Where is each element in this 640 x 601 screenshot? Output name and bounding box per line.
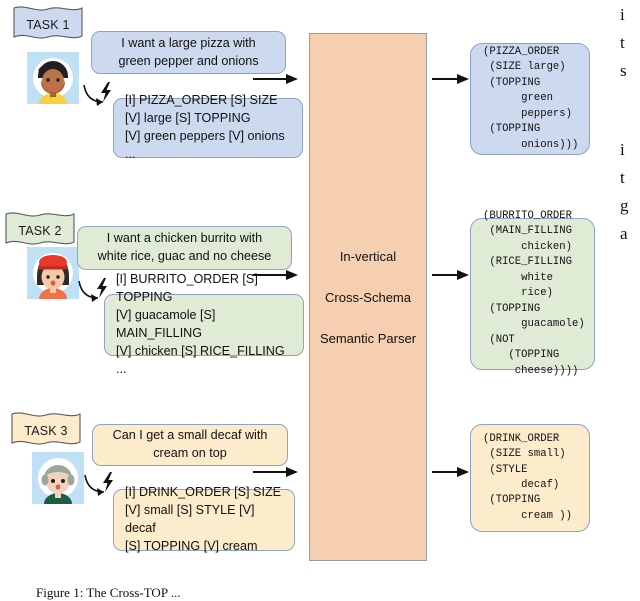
arrow-out-2 xyxy=(432,268,470,282)
utterance-bubble-1: I want a large pizza with green pepper a… xyxy=(91,31,286,74)
utterance-text-1: I want a large pizza with green pepper a… xyxy=(118,35,258,71)
task-flag-label-3: TASK 3 xyxy=(10,410,82,452)
task-flag-3: TASK 3 xyxy=(10,410,82,452)
utterance-bubble-2: I want a chicken burrito with white rice… xyxy=(77,226,292,270)
clipped-body-text-column: i t s i t g a xyxy=(616,0,640,600)
arrow-in-2 xyxy=(253,268,299,282)
parse-text-2: [I] BURRITO_ORDER [S] TOPPING [V] guacam… xyxy=(116,271,295,378)
utterance-text-2: I want a chicken burrito with white rice… xyxy=(98,230,272,266)
logical-form-box-2: (BURRITO_ORDER (MAIN_FILLING chicken) (R… xyxy=(470,218,595,370)
parse-bubble-3: [I] DRINK_ORDER [S] SIZE [V] small [S] S… xyxy=(113,489,295,551)
edge-char-4: t xyxy=(620,168,625,188)
logical-form-text-2: (BURRITO_ORDER (MAIN_FILLING chicken) (R… xyxy=(483,209,585,379)
logical-form-box-1: (PIZZA_ORDER (SIZE large) (TOPPING green… xyxy=(470,43,590,155)
logical-form-box-3: (DRINK_ORDER (SIZE small) (STYLE decaf) … xyxy=(470,424,590,532)
task-flag-1: TASK 1 xyxy=(12,4,84,46)
task-flag-2: TASK 2 xyxy=(4,210,76,252)
edge-char-2: s xyxy=(620,61,627,81)
utterance-bubble-3: Can I get a small decaf with cream on to… xyxy=(92,424,288,466)
edge-char-5: g xyxy=(620,196,629,216)
figure-caption: Figure 1: The Cross-TOP ... xyxy=(36,585,181,601)
task-flag-label-1: TASK 1 xyxy=(12,4,84,46)
edge-char-6: a xyxy=(620,224,628,244)
parse-text-3: [I] DRINK_ORDER [S] SIZE [V] small [S] S… xyxy=(125,484,286,556)
utterance-text-3: Can I get a small decaf with cream on to… xyxy=(113,427,268,463)
avatar-woman-red-cap xyxy=(27,247,79,299)
arrow-in-3 xyxy=(253,465,299,479)
edge-char-3: i xyxy=(620,140,625,160)
parser-line-2: Cross-Schema xyxy=(325,290,411,305)
edge-char-0: i xyxy=(620,5,625,25)
parser-line-1: In-vertical xyxy=(340,249,396,264)
parse-text-1: [I] PIZZA_ORDER [S] SIZE [V] large [S] T… xyxy=(125,92,294,164)
logical-form-text-3: (DRINK_ORDER (SIZE small) (STYLE decaf) … xyxy=(483,432,572,525)
arrow-out-3 xyxy=(432,465,470,479)
edge-char-1: t xyxy=(620,33,625,53)
parse-bubble-2: [I] BURRITO_ORDER [S] TOPPING [V] guacam… xyxy=(104,294,304,356)
arrow-in-1 xyxy=(253,72,299,86)
parse-bubble-1: [I] PIZZA_ORDER [S] SIZE [V] large [S] T… xyxy=(113,98,303,158)
avatar-young-person xyxy=(27,52,79,104)
arrow-out-1 xyxy=(432,72,470,86)
figure-canvas: TASK 1 I want a large pizza with green p… xyxy=(0,0,640,600)
avatar-older-person xyxy=(32,452,84,504)
lightning-bolt-icon-1 xyxy=(99,82,113,107)
logical-form-text-1: (PIZZA_ORDER (SIZE large) (TOPPING green… xyxy=(483,45,578,153)
task-flag-label-2: TASK 2 xyxy=(4,210,76,252)
parser-line-3: Semantic Parser xyxy=(320,331,416,346)
semantic-parser-block: In-vertical Cross-Schema Semantic Parser xyxy=(309,33,427,561)
